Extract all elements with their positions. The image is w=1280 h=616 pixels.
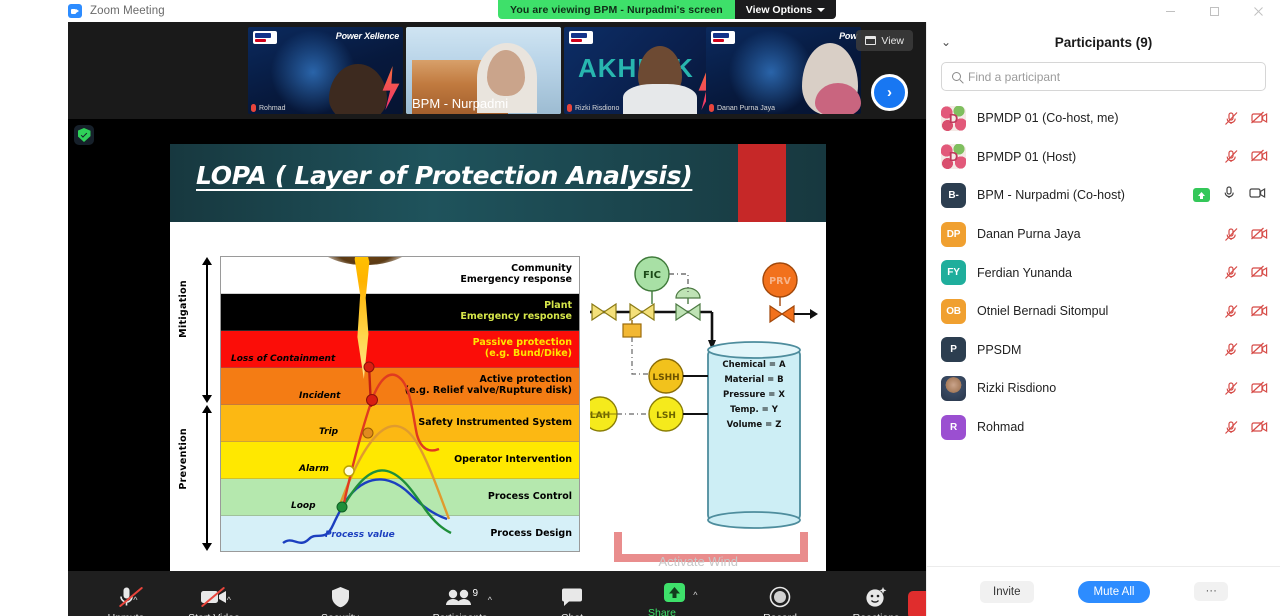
view-button-label: View (881, 35, 904, 47)
thumbnail-nametag: Danan Purna Jaya (709, 104, 775, 112)
thumbnail-nametag: BPM - Nurpadmi (412, 96, 508, 111)
meeting-stage: Power Xellence Rohmad BPM - Nurpadmi AKH… (68, 22, 926, 616)
lopa-trend-curves (221, 257, 580, 552)
company-logo-icon (253, 31, 277, 44)
mic-off-icon: ^ (118, 585, 135, 609)
mic-muted-icon[interactable] (1224, 149, 1239, 164)
list-item[interactable]: B- BPM - Nurpadmi (Co-host) (941, 176, 1266, 215)
thumbnail-overlay-text: Power Xellence (336, 31, 399, 41)
window-title: Zoom Meeting (90, 5, 165, 17)
svg-text:PRV: PRV (769, 276, 791, 287)
svg-text:LAH: LAH (590, 411, 610, 421)
mic-muted-icon[interactable] (1224, 342, 1239, 357)
chevron-up-icon[interactable]: ^ (227, 595, 231, 605)
participant-name: BPMDP 01 (Host) (977, 150, 1213, 164)
tank-spec-pressure: Pressure = X (708, 388, 800, 403)
pid-diagram: FIC PR (590, 232, 818, 562)
tank-spec-temp: Temp. = Y (708, 403, 800, 418)
invite-button[interactable]: Invite (980, 581, 1034, 603)
zoom-logo-icon (68, 4, 82, 18)
chat-icon (561, 585, 583, 609)
slide-title: LOPA ( Layer of Protection Analysis) (196, 161, 692, 190)
mic-on-icon[interactable] (1222, 185, 1237, 205)
desktop-background-left (0, 0, 68, 616)
mic-muted-icon[interactable] (1224, 420, 1239, 435)
search-input[interactable] (968, 70, 1255, 84)
avatar-initials: P (950, 344, 956, 355)
tank-specifications: Chemical = A Material = B Pressure = X T… (708, 358, 800, 432)
mic-muted-icon (709, 104, 714, 112)
participant-name: BPM - Nurpadmi (Co-host) (977, 188, 1182, 202)
tank-spec-volume: Volume = Z (708, 418, 800, 433)
chevron-up-icon[interactable]: ^ (693, 590, 697, 600)
participant-status-icons (1224, 420, 1266, 435)
chevron-right-icon: › (887, 84, 892, 101)
reactions-icon (865, 585, 888, 609)
minimize-icon[interactable] (1148, 0, 1192, 22)
avatar: R (941, 415, 966, 440)
camera-off-icon[interactable] (1251, 227, 1266, 242)
avatar-initials: R (950, 422, 957, 433)
video-filmstrip: Power Xellence Rohmad BPM - Nurpadmi AKH… (68, 22, 926, 119)
share-screen-label: Share Screen (648, 608, 700, 616)
video-off-icon: ^ (200, 585, 228, 609)
lopa-axis: Mitigation Prevention (176, 256, 220, 552)
mic-muted-icon (251, 104, 256, 112)
participant-status-icons (1224, 342, 1266, 357)
participants-panel: ⌄ Participants (9) D BPMDP 01 (Co-host, … (926, 22, 1280, 616)
participant-status-icons (1224, 149, 1266, 164)
slide-header: LOPA ( Layer of Protection Analysis) (170, 144, 826, 222)
avatar: P (941, 337, 966, 362)
raise-hand-icon[interactable] (1193, 188, 1210, 202)
avatar: DP (941, 222, 966, 247)
reactions-button[interactable]: Reactions (844, 576, 908, 616)
lopa-side-label-loop: Loop (291, 501, 316, 511)
participant-status-icons (1224, 111, 1266, 126)
participants-panel-header: ⌄ Participants (9) (927, 22, 1280, 62)
lopa-side-label-incident: Incident (299, 391, 340, 401)
participant-name: Ferdian Yunanda (977, 266, 1213, 280)
participants-button[interactable]: 9 ^ Participants (428, 576, 492, 616)
avatar: OB (941, 299, 966, 324)
participant-name: PPSDM (977, 343, 1213, 357)
chevron-up-icon[interactable]: ^ (133, 595, 137, 605)
participant-status-icons (1224, 381, 1266, 396)
camera-off-icon[interactable] (1251, 265, 1266, 280)
participant-name: Otniel Bernadi Sitompul (977, 304, 1213, 318)
thumbnail-nametag: Rizki Risdiono (567, 104, 619, 112)
more-options-button[interactable]: ··· (1194, 582, 1228, 601)
participants-panel-footer: Invite Mute All ··· (927, 566, 1280, 616)
avatar: FY (941, 260, 966, 285)
avatar-initials: D (949, 111, 958, 126)
maximize-icon[interactable] (1192, 0, 1236, 22)
window-controls (1148, 0, 1280, 22)
video-thumbnail-active-speaker[interactable]: BPM - Nurpadmi (406, 27, 561, 114)
avatar: D (941, 106, 966, 131)
participant-shirt (623, 84, 697, 114)
mic-muted-icon[interactable] (1224, 227, 1239, 242)
lopa-layer-chart: Community Emergency response Plant Emerg… (220, 256, 580, 552)
axis-caption-prevention: Prevention (178, 428, 189, 490)
chevron-down-icon (817, 8, 825, 12)
thumbnail-name: Danan Purna Jaya (717, 105, 775, 112)
participant-name: Danan Purna Jaya (977, 227, 1213, 241)
search-icon (952, 72, 961, 81)
camera-off-icon[interactable] (1251, 420, 1266, 435)
tank-spec-chemical: Chemical = A (708, 358, 800, 373)
camera-off-icon[interactable] (1251, 381, 1266, 396)
participant-name: Rohmad (977, 420, 1213, 434)
list-item[interactable]: D BPMDP 01 (Co-host, me) (941, 99, 1266, 138)
participant-face-front (487, 50, 525, 96)
list-item[interactable]: Rizki Risdiono (941, 369, 1266, 408)
chevron-up-icon[interactable]: ^ (488, 595, 492, 605)
mic-muted-icon[interactable] (1224, 111, 1239, 126)
participant-name: BPMDP 01 (Co-host, me) (977, 111, 1213, 125)
axis-caption-mitigation: Mitigation (178, 280, 189, 338)
company-logo-icon (569, 31, 593, 44)
video-thumbnail[interactable]: AKHLAK Rizki Risdiono (564, 27, 719, 114)
company-logo-icon (711, 31, 735, 44)
secure-shield-icon (74, 125, 94, 145)
meeting-toolbar: ^ Unmute ^ Start Video (68, 571, 926, 616)
participants-list: D BPMDP 01 (Co-host, me) D BPMDP 01 (Hos… (927, 99, 1280, 446)
list-item[interactable]: R Rohmad (941, 408, 1266, 447)
unmute-button[interactable]: ^ Unmute (94, 576, 158, 616)
view-layout-button[interactable]: View (856, 30, 913, 51)
list-item[interactable]: D BPMDP 01 (Host) (941, 138, 1266, 177)
svg-text:LSH: LSH (656, 411, 676, 421)
slide-body: Mitigation Prevention Community Emergenc… (170, 222, 826, 571)
chevron-down-icon[interactable]: ⌄ (941, 35, 951, 49)
avatar: B- (941, 183, 966, 208)
participants-icon: 9 ^ (438, 585, 482, 609)
participants-panel-title: Participants (9) (1055, 35, 1153, 50)
security-button[interactable]: Security (308, 576, 372, 616)
activate-windows-watermark: Activate Wind (659, 554, 738, 569)
participant-name: Rizki Risdiono (977, 381, 1213, 395)
camera-on-icon[interactable] (1249, 186, 1266, 204)
svg-text:FIC: FIC (643, 270, 661, 281)
mute-all-button[interactable]: Mute All (1078, 581, 1151, 603)
share-screen-icon: ^ (663, 580, 686, 604)
thumbnail-nametag: Rohmad (251, 104, 285, 112)
participant-status-icons (1193, 185, 1266, 205)
thumbnail-overlay-text: Pow (839, 31, 857, 41)
close-icon[interactable] (1236, 0, 1280, 22)
list-item[interactable]: DP Danan Purna Jaya (941, 215, 1266, 254)
camera-off-icon[interactable] (1251, 149, 1266, 164)
shared-screen-area: LOPA ( Layer of Protection Analysis) Mit… (68, 119, 926, 571)
mic-muted-icon[interactable] (1224, 304, 1239, 319)
view-options-button[interactable]: View Options (735, 0, 836, 19)
avatar (941, 376, 966, 401)
camera-off-icon[interactable] (1251, 304, 1266, 319)
list-item[interactable]: P PPSDM (941, 331, 1266, 370)
presentation-slide: LOPA ( Layer of Protection Analysis) Mit… (170, 144, 826, 571)
thumbnail-name: BPM - Nurpadmi (412, 96, 508, 111)
avatar-initials: DP (947, 229, 961, 240)
participant-status-icons (1224, 304, 1266, 319)
screen-share-banner: You are viewing BPM - Nurpadmi's screen … (498, 0, 836, 19)
video-thumbnail[interactable]: Power Xellence Rohmad (248, 27, 403, 114)
participant-status-icons (1224, 227, 1266, 242)
start-video-button[interactable]: ^ Start Video (182, 576, 246, 616)
camera-off-icon[interactable] (1251, 342, 1266, 357)
avatar-initials: D (949, 149, 958, 164)
thumbnail-name: Rizki Risdiono (575, 105, 619, 112)
mic-muted-icon (567, 104, 572, 112)
lopa-side-label-loss-of-containment: Loss of Containment (231, 354, 335, 364)
share-banner-message: You are viewing BPM - Nurpadmi's screen (498, 0, 735, 19)
zoom-meeting-window: Zoom Meeting You are viewing BPM - Nurpa… (0, 0, 1280, 616)
participant-status-icons (1224, 265, 1266, 280)
shield-icon (331, 585, 350, 609)
filmstrip-next-button[interactable]: › (871, 74, 908, 111)
lopa-side-label-alarm: Alarm (299, 464, 329, 474)
video-thumbnail[interactable]: Pow Danan Purna Jaya (706, 27, 861, 114)
list-item[interactable]: OB Otniel Bernadi Sitompul (941, 292, 1266, 331)
record-button[interactable]: Record (748, 576, 812, 616)
search-box[interactable] (941, 62, 1266, 91)
thumbnail-name: Rohmad (259, 105, 285, 112)
chat-button[interactable]: Chat (540, 576, 604, 616)
layout-grid-icon (865, 36, 876, 45)
avatar-initials: FY (947, 267, 959, 278)
record-icon (769, 585, 791, 609)
share-screen-button[interactable]: ^ Share Screen (642, 576, 706, 616)
list-item[interactable]: FY Ferdian Yunanda (941, 253, 1266, 292)
camera-off-icon[interactable] (1251, 111, 1266, 126)
avatar-initials: B- (948, 190, 958, 201)
participant-search (927, 62, 1280, 99)
slide-accent-bar (738, 144, 786, 222)
participants-count-badge: 9 (472, 588, 478, 599)
lopa-side-label-trip: Trip (319, 427, 338, 437)
svg-text:LSHH: LSHH (652, 373, 679, 383)
avatar: D (941, 144, 966, 169)
lopa-side-label-process-value: Process value (325, 530, 395, 540)
avatar-initials: OB (946, 306, 961, 317)
tank-spec-material: Material = B (708, 373, 800, 388)
mic-muted-icon[interactable] (1224, 265, 1239, 280)
view-options-label: View Options (746, 4, 812, 16)
mic-muted-icon[interactable] (1224, 381, 1239, 396)
